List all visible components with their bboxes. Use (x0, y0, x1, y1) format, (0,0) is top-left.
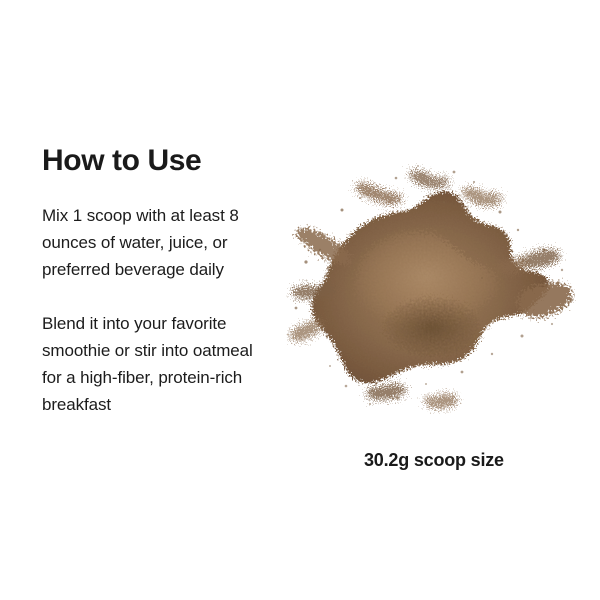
instruction-paragraph-2: Blend it into your favorite smoothie or … (42, 310, 274, 418)
instructions-text-column: How to Use Mix 1 scoop with at least 8 o… (42, 142, 282, 418)
instruction-paragraph-1: Mix 1 scoop with at least 8 ounces of wa… (42, 202, 274, 283)
how-to-use-panel: How to Use Mix 1 scoop with at least 8 o… (0, 0, 600, 600)
scoop-size-caption: 30.2g scoop size (364, 450, 504, 471)
powder-main-mass (312, 191, 550, 383)
powder-pile-image (286, 158, 576, 428)
powder-bottom-scatter (367, 384, 459, 409)
page-title: How to Use (42, 142, 282, 180)
product-image-container (286, 158, 576, 428)
